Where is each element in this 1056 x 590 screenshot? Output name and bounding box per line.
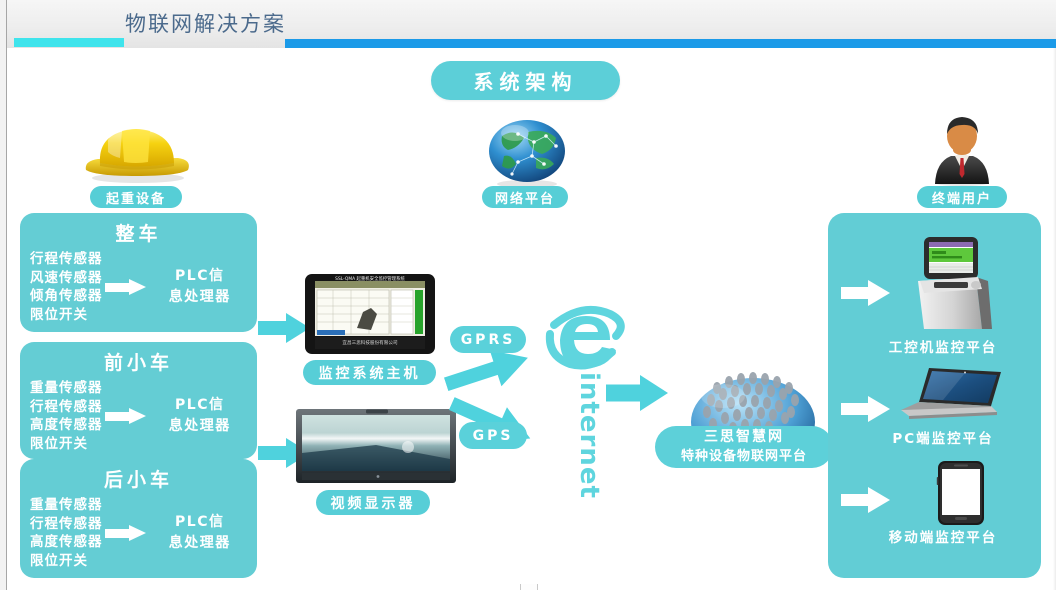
kiosk-terminal-icon xyxy=(898,233,1002,331)
slide-canvas: 物联网解决方案 系统架构 xyxy=(0,0,1056,590)
sensor-item: 倾角传感器 xyxy=(30,287,103,306)
sensor-list: 行程传感器 风速传感器 倾角传感器 限位开关 xyxy=(30,250,103,324)
sensor-group-body: 重量传感器 行程传感器 高度传感器 限位开关 PLC信 息处理器 xyxy=(20,375,257,453)
label-end-user: 终端用户 xyxy=(917,186,1007,208)
platform-name-line-1: 三思智慧网 xyxy=(704,428,784,447)
sensor-list: 重量传感器 行程传感器 高度传感器 限位开关 xyxy=(30,496,103,570)
header-accent-cyan xyxy=(14,38,124,47)
plc-line-2: 息处理器 xyxy=(151,533,250,554)
sensor-group-whole-vehicle: 整车 行程传感器 风速传感器 倾角传感器 限位开关 PLC信 息处理器 xyxy=(20,213,257,332)
laptop-icon xyxy=(893,366,1005,422)
right-arrow-icon xyxy=(105,279,147,296)
plc-line-2: 息处理器 xyxy=(151,416,250,437)
badge-gprs: GPRS xyxy=(450,326,526,353)
sensor-group-front-trolley: 前小车 重量传感器 行程传感器 高度传感器 限位开关 PLC信 息处理器 xyxy=(20,342,257,459)
sensor-item: 风速传感器 xyxy=(30,269,103,288)
plc-line-1: PLC信 xyxy=(151,266,250,287)
sensor-item: 限位开关 xyxy=(30,306,103,325)
platform-name-line-2: 特种设备物联网平台 xyxy=(681,447,807,466)
slide-frame-left-edge xyxy=(0,0,7,590)
monitoring-host-device-image: 宜昌三思科技股份有限公司 SSL-QMA 起重机安全监控管理系统 xyxy=(305,274,435,354)
page-title: 物联网解决方案 xyxy=(125,8,286,38)
smartphone-icon xyxy=(936,461,986,525)
plc-processor-label: PLC信 息处理器 xyxy=(151,266,250,308)
label-industrial-pc-platform: 工控机监控平台 xyxy=(868,336,1018,356)
video-display-device-image xyxy=(296,409,456,483)
arrow-to-pc-client-icon xyxy=(841,396,891,422)
diagram-title-badge: 系统架构 xyxy=(431,61,620,100)
label-network-platform: 网络平台 xyxy=(482,186,568,208)
label-mobile-client-platform: 移动端监控平台 xyxy=(868,526,1018,546)
arrow-to-industrial-pc-icon xyxy=(841,280,891,306)
svg-text:宜昌三思科技股份有限公司: 宜昌三思科技股份有限公司 xyxy=(342,339,398,346)
internet-label: internet xyxy=(574,372,604,499)
plc-line-1: PLC信 xyxy=(151,395,250,416)
badge-gps: GPS xyxy=(459,422,527,449)
plc-line-1: PLC信 xyxy=(151,512,250,533)
arrow-to-mobile-client-icon xyxy=(841,487,891,513)
sensor-item: 高度传感器 xyxy=(30,416,103,435)
internet-explorer-e-icon xyxy=(530,292,634,382)
sensor-group-title: 整车 xyxy=(20,213,257,246)
hard-hat-icon xyxy=(78,118,196,184)
sensor-list: 重量传感器 行程传感器 高度传感器 限位开关 xyxy=(30,379,103,453)
sensor-item: 行程传感器 xyxy=(30,515,103,534)
globe-icon xyxy=(488,116,566,188)
sensor-group-body: 行程传感器 风速传感器 倾角传感器 限位开关 PLC信 息处理器 xyxy=(20,246,257,324)
label-video-display: 视频显示器 xyxy=(316,490,430,515)
arrow-sensors-to-host-icon xyxy=(258,313,310,343)
header-accent-blue xyxy=(285,39,1056,48)
sensor-group-rear-trolley: 后小车 重量传感器 行程传感器 高度传感器 限位开关 PLC信 息处理器 xyxy=(20,459,257,578)
sensor-group-title: 前小车 xyxy=(20,342,257,375)
sensor-item: 限位开关 xyxy=(30,435,103,454)
label-crane-equipment: 起重设备 xyxy=(90,186,182,208)
sensor-item: 行程传感器 xyxy=(30,250,103,269)
label-pc-client-platform: PC端监控平台 xyxy=(868,427,1018,447)
sensor-item: 行程传感器 xyxy=(30,398,103,417)
right-arrow-icon xyxy=(105,525,147,542)
right-arrow-icon xyxy=(105,408,147,425)
plc-line-2: 息处理器 xyxy=(151,287,250,308)
label-monitoring-host: 监控系统主机 xyxy=(303,360,436,385)
sensor-item: 高度传感器 xyxy=(30,533,103,552)
arrow-internet-to-platform-icon xyxy=(606,375,668,411)
sensor-item: 重量传感器 xyxy=(30,496,103,515)
user-avatar-icon xyxy=(925,112,999,186)
plc-processor-label: PLC信 息处理器 xyxy=(151,395,250,437)
platform-name-badge: 三思智慧网 特种设备物联网平台 xyxy=(655,426,833,468)
slide-frame-bottom-tick xyxy=(520,584,538,590)
plc-processor-label: PLC信 息处理器 xyxy=(151,512,250,554)
header-band: 物联网解决方案 xyxy=(7,0,1056,48)
sensor-item: 重量传感器 xyxy=(30,379,103,398)
sensor-group-body: 重量传感器 行程传感器 高度传感器 限位开关 PLC信 息处理器 xyxy=(20,492,257,570)
svg-text:SSL-QMA 起重机安全监控管理系统: SSL-QMA 起重机安全监控管理系统 xyxy=(335,275,405,282)
sensor-item: 限位开关 xyxy=(30,552,103,571)
sensor-group-title: 后小车 xyxy=(20,459,257,492)
